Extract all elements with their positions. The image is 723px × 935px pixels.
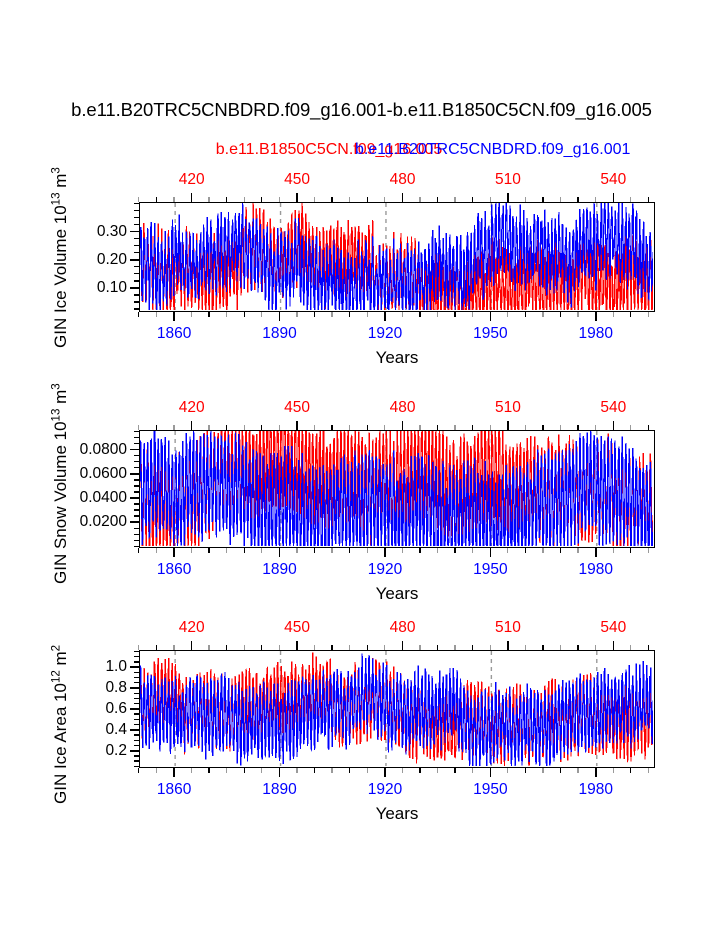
plot-area [139, 202, 655, 312]
y-tick [134, 540, 139, 541]
y-tick [134, 294, 139, 295]
x-tick-bottom [648, 548, 649, 553]
x-tick-top [244, 645, 245, 650]
x-tick-bottom [507, 768, 508, 773]
x-tick-bottom [542, 768, 543, 773]
x-tick-bottom [613, 312, 614, 317]
x-tick-top [419, 425, 420, 430]
x-axis-label-bottom: 1950 [473, 325, 507, 343]
x-tick-top [437, 425, 438, 430]
x-tick-bottom [208, 548, 209, 553]
x-tick-top [331, 425, 332, 430]
y-tick [134, 210, 139, 211]
x-tick-bottom [419, 548, 420, 553]
x-axis-label-bottom: 1890 [262, 325, 296, 343]
x-tick-top [244, 425, 245, 430]
x-tick-bottom [349, 768, 350, 773]
x-tick-bottom [367, 312, 368, 317]
x-tick-bottom [595, 768, 597, 777]
x-tick-bottom [542, 312, 543, 317]
x-tick-bottom [138, 312, 139, 317]
y-tick [134, 485, 139, 486]
x-tick-top [648, 645, 649, 650]
y-tick [130, 287, 139, 289]
y-tick [134, 273, 139, 274]
x-tick-bottom [402, 768, 403, 773]
x-tick-top [138, 197, 139, 202]
x-tick-top [226, 197, 227, 202]
x-tick-bottom [173, 312, 175, 321]
x-tick-top [525, 197, 526, 202]
x-tick-bottom [402, 548, 403, 553]
x-tick-bottom [613, 768, 614, 773]
x-axis-label-bottom: 1890 [262, 561, 296, 579]
x-axis-title: Years [376, 584, 419, 604]
y-tick [130, 708, 139, 710]
x-tick-bottom [296, 768, 297, 773]
x-tick-top [279, 425, 280, 430]
x-tick-top [437, 645, 438, 650]
x-tick-top [595, 645, 596, 650]
x-tick-bottom [191, 312, 192, 317]
x-tick-bottom [384, 768, 386, 777]
x-axis-label-bottom: 1890 [262, 781, 296, 799]
x-tick-top [525, 645, 526, 650]
y-tick [134, 672, 139, 673]
y-tick [134, 224, 139, 225]
x-tick-top [507, 193, 509, 202]
x-tick-bottom [314, 548, 315, 553]
x-axis-label-top: 480 [390, 399, 416, 417]
y-tick [134, 217, 139, 218]
x-tick-top [490, 197, 491, 202]
page-title: b.e11.B20TRC5CNBDRD.f09_g16.001-b.e11.B1… [0, 99, 723, 121]
y-tick [130, 231, 139, 233]
x-tick-top [613, 421, 615, 430]
y-tick [134, 760, 139, 761]
y-tick [134, 467, 139, 468]
x-tick-top [261, 197, 262, 202]
x-axis-label-top: 420 [179, 171, 205, 189]
x-tick-bottom [208, 312, 209, 317]
y-tick [134, 455, 139, 456]
y-tick [130, 729, 139, 731]
y-tick [134, 766, 139, 767]
x-tick-top [349, 645, 350, 650]
y-tick [130, 449, 139, 451]
x-tick-bottom [244, 768, 245, 773]
x-tick-bottom [454, 312, 455, 317]
x-tick-bottom [630, 548, 631, 553]
y-axis-title: GIN Ice Area 1012 m2 [51, 645, 71, 804]
x-tick-top [191, 641, 193, 650]
x-tick-top [156, 425, 157, 430]
y-tick [134, 266, 139, 267]
x-tick-top [384, 645, 385, 650]
x-tick-bottom [630, 312, 631, 317]
x-tick-top [648, 197, 649, 202]
x-tick-top [349, 197, 350, 202]
x-tick-top [613, 641, 615, 650]
x-tick-bottom [525, 312, 526, 317]
x-tick-bottom [525, 768, 526, 773]
x-tick-top [648, 425, 649, 430]
x-tick-top [191, 193, 193, 202]
y-tick [130, 473, 139, 475]
y-tick [134, 491, 139, 492]
y-tick [134, 503, 139, 504]
y-tick [134, 515, 139, 516]
x-axis-label-top: 420 [179, 619, 205, 637]
y-tick [134, 203, 139, 204]
x-tick-bottom [472, 548, 473, 553]
x-tick-top [279, 645, 280, 650]
x-axis-label-top: 510 [495, 619, 521, 637]
x-tick-top [595, 197, 596, 202]
y-axis-title: GIN Snow Volume 1013 m3 [51, 383, 71, 584]
x-axis-label-bottom: 1860 [157, 781, 191, 799]
x-tick-top [613, 193, 615, 202]
x-tick-bottom [156, 312, 157, 317]
y-tick [134, 656, 139, 657]
y-tick [134, 677, 139, 678]
x-tick-top [595, 425, 596, 430]
x-tick-top [472, 425, 473, 430]
x-tick-bottom [208, 768, 209, 773]
y-tick [134, 308, 139, 309]
y-tick [134, 546, 139, 547]
x-tick-top [208, 645, 209, 650]
x-tick-top [472, 645, 473, 650]
figure-canvas: b.e11.B20TRC5CNBDRD.f09_g16.001-b.e11.B1… [0, 0, 723, 935]
x-axis-title: Years [376, 804, 419, 824]
x-tick-bottom [296, 312, 297, 317]
x-axis-label-bottom: 1980 [579, 325, 613, 343]
x-tick-bottom [331, 768, 332, 773]
x-tick-top [156, 645, 157, 650]
x-tick-bottom [648, 312, 649, 317]
y-tick [130, 521, 139, 523]
x-tick-top [138, 645, 139, 650]
x-tick-bottom [525, 548, 526, 553]
y-tick [134, 528, 139, 529]
x-axis-label-bottom: 1860 [157, 325, 191, 343]
x-axis-label-top: 480 [390, 619, 416, 637]
x-tick-bottom [331, 548, 332, 553]
y-tick [134, 719, 139, 720]
y-tick [134, 651, 139, 652]
x-tick-bottom [490, 312, 492, 321]
x-tick-top [402, 193, 404, 202]
x-axis-label-bottom: 1980 [579, 781, 613, 799]
x-tick-top [560, 645, 561, 650]
y-tick [134, 682, 139, 683]
x-tick-top [156, 197, 157, 202]
x-tick-bottom [226, 768, 227, 773]
y-tick [134, 443, 139, 444]
x-tick-top [490, 425, 491, 430]
y-tick [134, 301, 139, 302]
x-tick-top [226, 425, 227, 430]
x-axis-label-bottom: 1950 [473, 781, 507, 799]
x-tick-top [454, 645, 455, 650]
x-tick-top [490, 645, 491, 650]
x-tick-top [560, 197, 561, 202]
x-axis-label-top: 480 [390, 171, 416, 189]
x-tick-top [577, 425, 578, 430]
x-axis-label-top: 420 [179, 399, 205, 417]
plot-area [139, 430, 655, 548]
x-tick-top [507, 421, 509, 430]
y-tick [130, 497, 139, 499]
x-tick-bottom [138, 768, 139, 773]
y-tick [134, 252, 139, 253]
x-tick-bottom [384, 312, 386, 321]
y-tick [134, 693, 139, 694]
x-tick-top [577, 645, 578, 650]
x-tick-top [138, 425, 139, 430]
x-tick-bottom [156, 768, 157, 773]
x-axis-label-top: 450 [284, 619, 310, 637]
x-tick-bottom [191, 768, 192, 773]
x-tick-top [384, 425, 385, 430]
x-tick-top [367, 645, 368, 650]
x-tick-top [419, 645, 420, 650]
y-tick [134, 238, 139, 239]
x-axis-label-bottom: 1920 [368, 561, 402, 579]
x-tick-top [577, 197, 578, 202]
y-tick [130, 666, 139, 668]
x-tick-bottom [577, 768, 578, 773]
x-axis-label-top: 450 [284, 171, 310, 189]
y-tick [134, 698, 139, 699]
x-axis-label-top: 450 [284, 399, 310, 417]
x-tick-bottom [595, 548, 597, 557]
y-tick [134, 755, 139, 756]
x-tick-bottom [261, 312, 262, 317]
x-tick-top [454, 197, 455, 202]
x-tick-top [244, 197, 245, 202]
x-axis-label-bottom: 1980 [579, 561, 613, 579]
y-tick [134, 280, 139, 281]
x-tick-bottom [402, 312, 403, 317]
x-tick-top [402, 421, 404, 430]
x-tick-top [630, 425, 631, 430]
x-axis-title: Years [376, 348, 419, 368]
y-tick [134, 703, 139, 704]
x-axis-label-bottom: 1920 [368, 781, 402, 799]
x-tick-bottom [437, 768, 438, 773]
x-tick-bottom [226, 312, 227, 317]
y-tick [134, 479, 139, 480]
y-tick [134, 724, 139, 725]
x-tick-bottom [595, 312, 597, 321]
x-tick-top [226, 645, 227, 650]
x-tick-top [367, 425, 368, 430]
x-tick-top [173, 645, 174, 650]
x-tick-top [402, 641, 404, 650]
x-tick-top [630, 197, 631, 202]
x-tick-bottom [507, 312, 508, 317]
x-tick-top [542, 197, 543, 202]
x-tick-bottom [577, 548, 578, 553]
x-tick-bottom [314, 312, 315, 317]
x-tick-bottom [419, 768, 420, 773]
x-tick-bottom [490, 548, 492, 557]
x-tick-bottom [244, 312, 245, 317]
x-axis-label-top: 540 [600, 619, 626, 637]
x-tick-bottom [437, 312, 438, 317]
x-tick-bottom [279, 312, 281, 321]
x-tick-bottom [244, 548, 245, 553]
x-tick-bottom [507, 548, 508, 553]
y-tick [130, 687, 139, 689]
x-tick-top [208, 197, 209, 202]
y-tick [134, 740, 139, 741]
x-tick-bottom [490, 768, 492, 777]
x-tick-top [296, 421, 298, 430]
x-tick-top [314, 425, 315, 430]
x-tick-top [261, 425, 262, 430]
x-axis-label-bottom: 1860 [157, 561, 191, 579]
x-tick-top [454, 425, 455, 430]
x-tick-bottom [261, 768, 262, 773]
x-tick-bottom [560, 548, 561, 553]
x-tick-bottom [138, 548, 139, 553]
x-tick-bottom [279, 768, 281, 777]
x-tick-top [630, 645, 631, 650]
x-axis-label-top: 510 [495, 399, 521, 417]
x-tick-bottom [648, 768, 649, 773]
x-tick-bottom [296, 548, 297, 553]
x-tick-top [349, 425, 350, 430]
y-tick [134, 661, 139, 662]
x-axis-label-bottom: 1950 [473, 561, 507, 579]
x-tick-bottom [419, 312, 420, 317]
x-tick-bottom [226, 548, 227, 553]
x-tick-bottom [454, 548, 455, 553]
x-axis-label-top: 540 [600, 399, 626, 417]
x-tick-top [279, 197, 280, 202]
x-tick-top [560, 425, 561, 430]
y-tick [134, 245, 139, 246]
x-tick-bottom [156, 548, 157, 553]
x-tick-top [384, 197, 385, 202]
x-tick-top [331, 645, 332, 650]
x-tick-top [507, 641, 509, 650]
x-tick-top [542, 425, 543, 430]
x-tick-top [331, 197, 332, 202]
x-tick-top [173, 197, 174, 202]
x-tick-top [173, 425, 174, 430]
plot-area [139, 650, 655, 768]
x-tick-top [261, 645, 262, 650]
y-tick [134, 509, 139, 510]
x-tick-bottom [331, 312, 332, 317]
x-tick-top [472, 197, 473, 202]
x-tick-top [208, 425, 209, 430]
x-tick-bottom [314, 768, 315, 773]
y-tick [134, 745, 139, 746]
x-tick-top [542, 645, 543, 650]
y-tick [134, 713, 139, 714]
x-tick-top [367, 197, 368, 202]
x-tick-bottom [472, 312, 473, 317]
x-tick-bottom [367, 548, 368, 553]
y-tick [134, 534, 139, 535]
x-axis-label-top: 540 [600, 171, 626, 189]
x-tick-bottom [472, 768, 473, 773]
x-tick-bottom [261, 548, 262, 553]
y-tick [134, 461, 139, 462]
x-tick-bottom [560, 312, 561, 317]
x-tick-top [314, 645, 315, 650]
y-tick [130, 259, 139, 261]
x-tick-bottom [367, 768, 368, 773]
x-axis-label-bottom: 1920 [368, 325, 402, 343]
x-tick-bottom [384, 548, 386, 557]
x-tick-bottom [437, 548, 438, 553]
y-tick [134, 431, 139, 432]
x-tick-bottom [173, 548, 175, 557]
legend-entry-transient: b.e11.B20TRC5CNBDRD.f09_g16.001 [355, 141, 630, 159]
x-tick-top [314, 197, 315, 202]
x-tick-top [296, 641, 298, 650]
x-tick-bottom [173, 768, 175, 777]
x-tick-bottom [630, 768, 631, 773]
x-tick-top [191, 421, 193, 430]
x-tick-top [437, 197, 438, 202]
x-tick-bottom [191, 548, 192, 553]
x-tick-bottom [613, 548, 614, 553]
x-tick-bottom [454, 768, 455, 773]
x-tick-top [296, 193, 298, 202]
y-tick [130, 750, 139, 752]
x-tick-bottom [542, 548, 543, 553]
x-tick-top [525, 425, 526, 430]
x-tick-bottom [560, 768, 561, 773]
y-tick [134, 734, 139, 735]
x-tick-bottom [279, 548, 281, 557]
x-tick-bottom [349, 548, 350, 553]
y-axis-title: GIN Ice Volume 1013 m3 [51, 167, 71, 348]
x-axis-label-top: 510 [495, 171, 521, 189]
y-tick [134, 437, 139, 438]
x-tick-bottom [577, 312, 578, 317]
x-tick-top [419, 197, 420, 202]
x-tick-bottom [349, 312, 350, 317]
